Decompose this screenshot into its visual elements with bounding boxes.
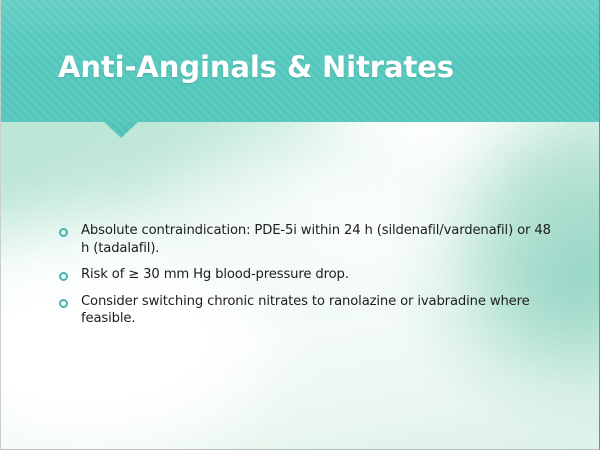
page-title: Anti-Anginals & Nitrates — [58, 50, 454, 84]
presentation-slide: Anti-Anginals & Nitrates Absolute contra… — [0, 0, 600, 450]
list-item: Consider switching chronic nitrates to r… — [59, 293, 559, 328]
list-item: Absolute contraindication: PDE-5i within… — [59, 222, 559, 257]
list-item: Risk of ≥ 30 mm Hg blood-pressure drop. — [59, 266, 559, 284]
hollow-circle-bullet-icon — [59, 228, 68, 237]
hollow-circle-bullet-icon — [59, 299, 68, 308]
list-item-text: Absolute contraindication: PDE-5i within… — [81, 222, 559, 257]
slide-body-bullet-list: Absolute contraindication: PDE-5i within… — [59, 222, 559, 337]
list-item-text: Risk of ≥ 30 mm Hg blood-pressure drop. — [81, 266, 559, 284]
hollow-circle-bullet-icon — [59, 272, 68, 281]
list-item-text: Consider switching chronic nitrates to r… — [81, 293, 559, 328]
